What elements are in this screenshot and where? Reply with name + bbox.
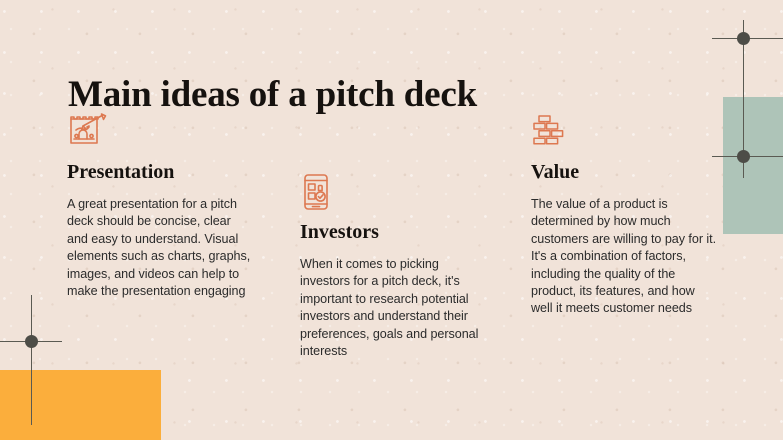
column-heading-investors: Investors <box>300 220 492 245</box>
presentation-board-icon <box>67 113 252 151</box>
crosshair-vertical-line <box>31 295 32 425</box>
column-body-investors: When it comes to picking investors for a… <box>300 256 492 360</box>
page-title: Main ideas of a pitch deck <box>68 73 477 117</box>
column-heading-presentation: Presentation <box>67 160 252 185</box>
content-column-presentation: Presentation A great presentation for a … <box>67 113 252 300</box>
content-column-investors: Investors When it comes to picking inves… <box>300 173 492 360</box>
column-body-value: The value of a product is determined by … <box>531 196 718 318</box>
content-column-value: Value The value of a product is determin… <box>531 113 718 318</box>
column-heading-value: Value <box>531 160 718 185</box>
crosshair-dot <box>25 335 38 348</box>
brick-wall-icon <box>531 113 718 151</box>
mobile-checkmark-icon <box>300 173 492 211</box>
crosshair-dot <box>737 32 750 45</box>
crosshair-dot <box>737 150 750 163</box>
orange-rectangle <box>0 370 161 440</box>
green-rectangle <box>723 97 783 234</box>
column-body-presentation: A great presentation for a pitch deck sh… <box>67 196 252 300</box>
presentation-slide: Main ideas of a pitch deck Presentation … <box>0 0 783 440</box>
